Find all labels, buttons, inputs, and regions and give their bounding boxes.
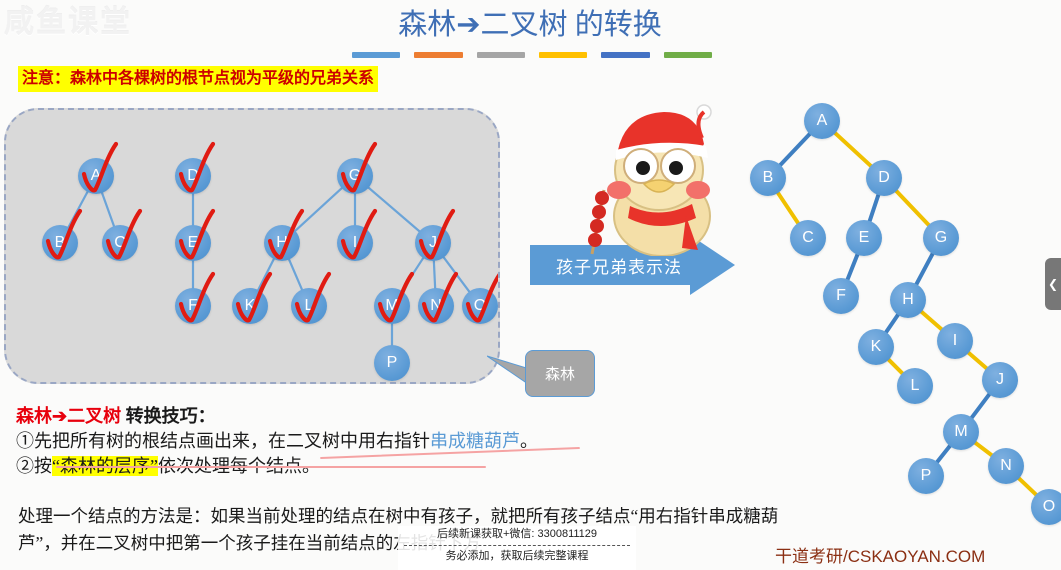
annotation-underline-1 — [56, 466, 486, 468]
bt-edge-J-M-left — [971, 393, 991, 419]
bt-edge-K-L-right — [887, 358, 903, 374]
forest-node-H: H — [264, 225, 300, 261]
forest-edge-J-O — [444, 257, 469, 291]
forest-callout: 森林 — [525, 350, 595, 397]
forest-node-C: C — [102, 225, 138, 261]
tips-line-1-a: ①先把所有树的根结点画出来，在二叉树中用右指针 — [16, 431, 430, 451]
site-watermark: 干道考研/CSKAOYAN.COM — [775, 542, 985, 567]
title-bar-2 — [414, 52, 462, 58]
notice-banner: 注意：森林中各棵树的根节点视为平级的兄弟关系 — [18, 66, 378, 92]
bt-node-D: D — [866, 160, 902, 196]
title-bar-6 — [664, 52, 712, 58]
tips-line-1-blue: 串成糖葫芦 — [430, 431, 520, 451]
forest-edge-J-N — [434, 261, 435, 288]
bt-edge-A-D-right — [834, 132, 872, 167]
bt-node-L: L — [897, 368, 933, 404]
forest-edge-H-K — [258, 259, 274, 290]
forest-node-L: L — [291, 288, 327, 324]
tips-heading-red: 森林➔二叉树 — [16, 406, 121, 426]
bt-node-A: A — [804, 103, 840, 139]
forest-edge-J-M — [402, 258, 423, 291]
wechat-overlay-watermark: 后续新课获取+微信: 3300811129 务必添加，获取后续完整课程 — [398, 526, 636, 570]
forest-node-N: N — [418, 288, 454, 324]
bt-node-H: H — [890, 282, 926, 318]
tips-line-2-a: ②按 — [16, 456, 52, 476]
slide-canvas: 咸鱼课堂 森林➔二叉树 的转换 注意：森林中各棵树的根节点视为平级的兄弟关系 A… — [0, 0, 1061, 570]
bt-edge-N-O-right — [1018, 477, 1038, 496]
bt-edge-E-F-left — [847, 253, 858, 281]
forest-edge-A-B — [69, 192, 88, 227]
bt-node-J: J — [982, 362, 1018, 398]
bt-edge-D-G-right — [895, 190, 930, 227]
title-bar-4 — [539, 52, 587, 58]
bt-node-G: G — [923, 220, 959, 256]
bt-edge-D-E-left — [869, 193, 879, 223]
bt-edge-M-N-right — [974, 442, 993, 457]
forest-node-O: O — [462, 288, 498, 324]
bt-edge-I-J-right — [967, 351, 988, 369]
forest-node-E: E — [175, 225, 211, 261]
bt-edge-H-I-right — [920, 311, 943, 331]
forest-node-B: B — [42, 225, 78, 261]
forest-node-D: D — [175, 158, 211, 194]
title-color-bars — [352, 52, 712, 58]
page-title: 森林➔二叉树 的转换 — [330, 4, 730, 46]
wechat-overlay-divider — [404, 545, 630, 546]
binary-tree-panel: ABCDEFGHKILJMPNO — [740, 78, 1061, 518]
title-bar-1 — [352, 52, 400, 58]
bt-node-P: P — [908, 458, 944, 494]
bt-node-E: E — [846, 220, 882, 256]
title-bar-3 — [477, 52, 525, 58]
forest-node-A: A — [78, 158, 114, 194]
wechat-overlay-line2: 务必添加，获取后续完整课程 — [398, 549, 636, 563]
forest-node-K: K — [232, 288, 268, 324]
title-bar-5 — [601, 52, 649, 58]
forest-node-J: J — [415, 225, 451, 261]
chevron-left-icon: ❮ — [1048, 277, 1058, 291]
bt-edge-G-H-left — [916, 252, 934, 286]
forest-edge-A-C — [102, 193, 114, 226]
wechat-overlay-line1: 后续新课获取+微信: 3300811129 — [398, 526, 636, 541]
page-title-text: 森林➔二叉树 的转换 — [398, 9, 662, 41]
tips-line-1: ①先把所有树的根结点画出来，在二叉树中用右指针串成糖葫芦。 — [16, 429, 716, 454]
tips-heading-rest: 转换技巧： — [121, 406, 216, 426]
forest-node-G: G — [337, 158, 373, 194]
bt-node-M: M — [943, 414, 979, 450]
forest-node-F: F — [175, 288, 211, 324]
bt-node-N: N — [988, 448, 1024, 484]
bt-node-I: I — [937, 323, 973, 359]
bt-edge-M-P-left — [936, 445, 951, 464]
forest-panel: ABCDEFGHIJKLMNOP — [4, 108, 500, 384]
forest-edge-G-J — [369, 188, 420, 232]
bt-edge-B-C-right — [777, 191, 799, 224]
bt-edge-H-K-left — [885, 313, 899, 334]
tips-heading: 森林➔二叉树 转换技巧： — [16, 404, 716, 429]
bt-edge-A-B-left — [779, 133, 811, 167]
bt-node-F: F — [823, 278, 859, 314]
forest-node-I: I — [337, 225, 373, 261]
bt-node-K: K — [858, 329, 894, 365]
forest-node-M: M — [374, 288, 410, 324]
forest-edge-H-L — [289, 260, 302, 290]
bt-node-O: O — [1031, 489, 1061, 525]
bt-node-B: B — [750, 160, 786, 196]
forest-node-P: P — [374, 345, 410, 381]
brand-watermark: 咸鱼课堂 — [4, 2, 184, 44]
forest-callout-label: 森林 — [545, 363, 575, 384]
panel-collapse-handle[interactable]: ❮ — [1045, 258, 1061, 310]
duck-with-santa-hat-holding-tanghulu-icon — [586, 98, 736, 256]
bt-node-C: C — [790, 220, 826, 256]
forest-edge-G-H — [295, 188, 341, 231]
